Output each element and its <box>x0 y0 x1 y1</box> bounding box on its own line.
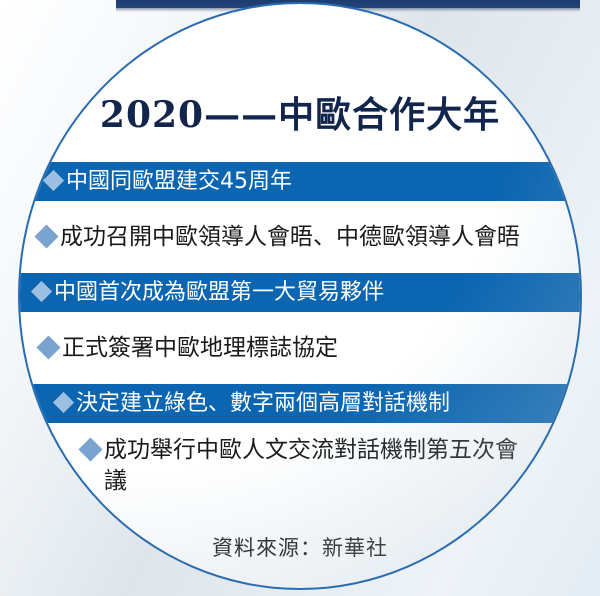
diamond-bullet-icon <box>36 335 60 359</box>
infographic-root: 2020——中歐合作大年 中國同歐盟建交45周年 成功召開中歐領導人會晤、中德歐… <box>0 0 600 596</box>
diamond-bullet-icon <box>53 391 74 412</box>
list-item-label: 中國同歐盟建交45周年 <box>66 169 292 195</box>
diamond-bullet-icon <box>34 224 58 248</box>
list-item: 成功舉行中歐人文交流對話機制第五次會議 <box>20 423 580 515</box>
list-item: 決定建立綠色、數字兩個高層對話機制 <box>20 384 580 423</box>
circular-plate: 2020——中歐合作大年 中國同歐盟建交45周年 成功召開中歐領導人會晤、中德歐… <box>18 2 582 590</box>
list-item: 中國同歐盟建交45周年 <box>20 162 580 201</box>
diamond-bullet-icon <box>43 169 64 190</box>
source-note: 資料來源：新華社 <box>20 532 580 562</box>
list-item: 成功召開中歐領導人會晤、中德歐領導人會晤 <box>20 201 580 273</box>
list-item-label: 決定建立綠色、數字兩個高層對話機制 <box>76 391 450 417</box>
list-item: 正式簽署中歐地理標誌協定 <box>20 312 580 384</box>
list-item-label: 成功舉行中歐人文交流對話機制第五次會議 <box>104 435 520 497</box>
diamond-bullet-icon <box>78 437 102 461</box>
list-item-label: 中國首次成為歐盟第一大貿易夥伴 <box>54 280 384 306</box>
diamond-bullet-icon <box>31 280 52 301</box>
page-title: 2020——中歐合作大年 <box>20 86 580 138</box>
list-item: 中國首次成為歐盟第一大貿易夥伴 <box>20 273 580 312</box>
list-item-label: 正式簽署中歐地理標誌協定 <box>62 333 338 364</box>
list-item-label: 成功召開中歐領導人會晤、中德歐領導人會晤 <box>60 222 520 253</box>
achievement-list: 中國同歐盟建交45周年 成功召開中歐領導人會晤、中德歐領導人會晤 中國首次成為歐… <box>20 162 580 515</box>
